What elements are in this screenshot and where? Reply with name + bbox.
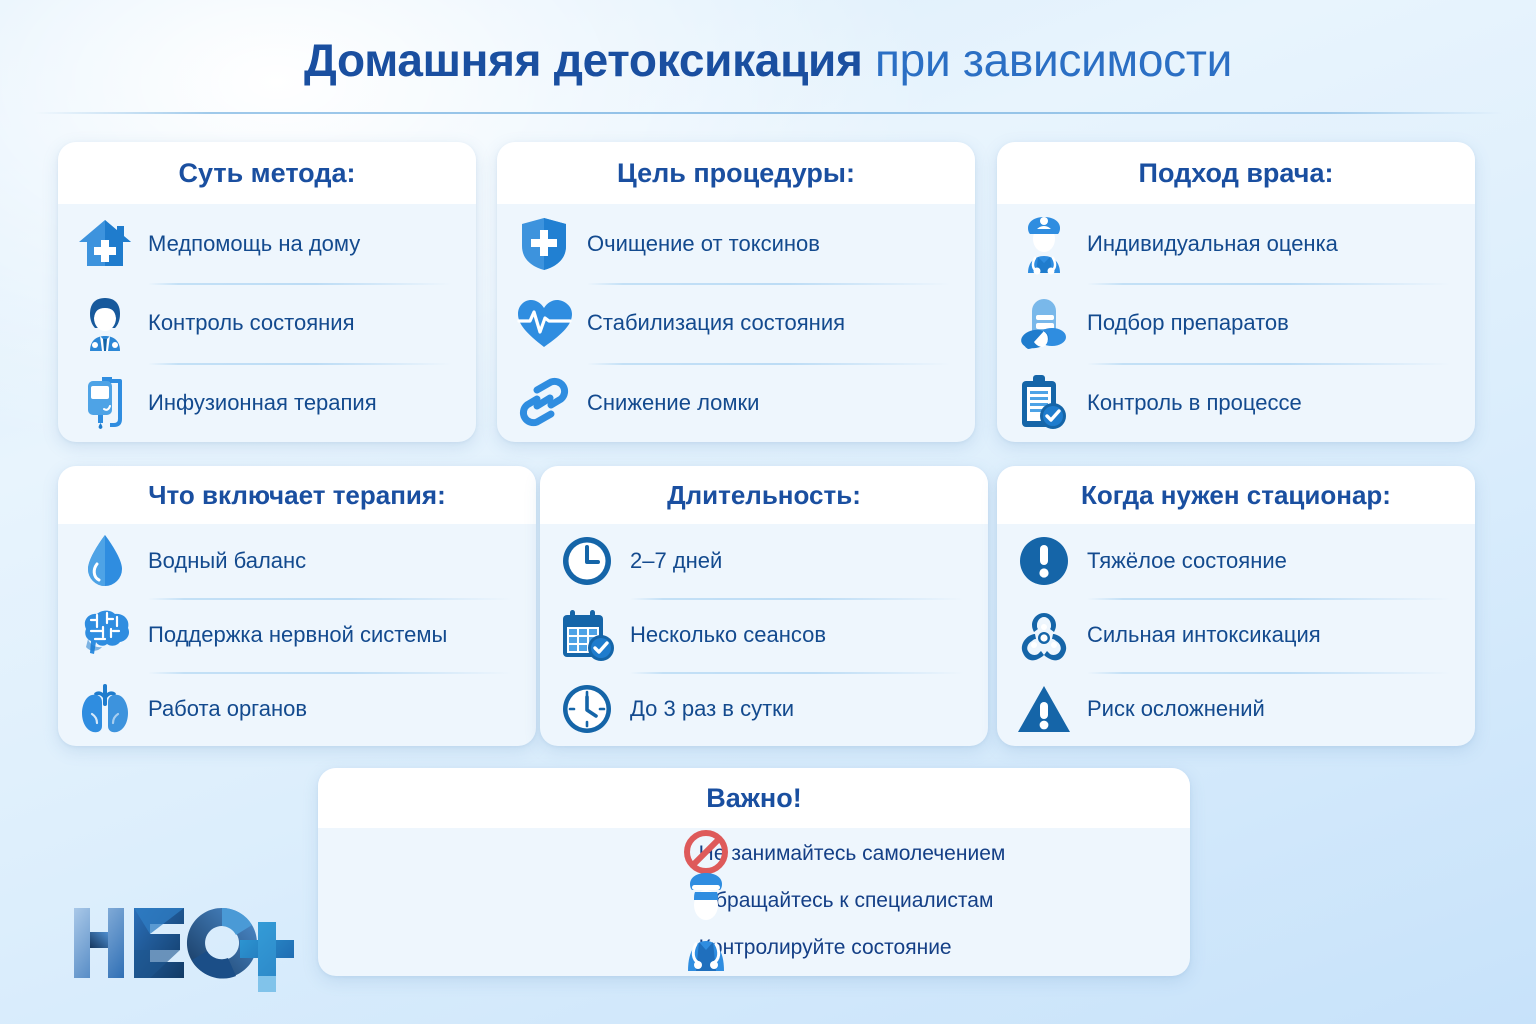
card-important-heading: Важно! [318, 768, 1190, 828]
card-essence: Суть метода: Медпомощь на дому [58, 142, 476, 442]
house-cross-icon [76, 215, 134, 273]
row-label: Поддержка нервной системы [148, 622, 447, 647]
calendar-check-icon [558, 606, 616, 664]
important-item: Контролируйте состояние [699, 925, 1006, 971]
row-item: Несколько сеансов [558, 598, 970, 672]
card-inpatient: Когда нужен стационар: Тяжёлое состояние [997, 466, 1475, 746]
heart-pulse-icon [515, 294, 573, 352]
row-label: Инфузионная терапия [148, 390, 377, 415]
row-item: Индивидуальная оценка [1015, 204, 1457, 283]
row-label: Контроль состояния [148, 310, 355, 335]
card-important: Важно! [318, 768, 1190, 976]
row-item: Сильная интоксикация [1015, 598, 1457, 672]
doctor-stethoscope-icon [1015, 215, 1073, 273]
row-item: 2–7 дней [558, 524, 970, 598]
card-approach-heading: Подход врача: [997, 142, 1475, 204]
important-item-label: Не занимайтесь самолечением [699, 842, 1006, 866]
lungs-icon [76, 680, 134, 738]
exclamation-circle-icon [1015, 532, 1073, 590]
row-item: Контроль состояния [76, 283, 458, 362]
card-essence-heading: Суть метода: [58, 142, 476, 204]
biohazard-icon [1015, 606, 1073, 664]
important-item-label: Обращайтесь к специалистам [699, 889, 994, 913]
infographic-page: Домашняя детоксикация при зависимости Су… [0, 0, 1536, 1024]
row-label: Снижение ломки [587, 390, 759, 415]
page-title-light: при зависимости [863, 34, 1232, 86]
row-label: Тяжёлое состояние [1087, 548, 1287, 573]
row-label: Риск осложнений [1087, 696, 1265, 721]
row-label: Работа органов [148, 696, 307, 721]
row-item: Поддержка нервной системы [76, 598, 518, 672]
row-item: До 3 раз в сутки [558, 672, 970, 746]
row-label: Водный баланс [148, 548, 306, 573]
card-goal-heading: Цель процедуры: [497, 142, 975, 204]
clock-icon [558, 532, 616, 590]
row-label: Медпомощь на дому [148, 231, 360, 256]
row-label: Сильная интоксикация [1087, 622, 1321, 647]
page-title-strong: Домашняя детоксикация [304, 34, 863, 86]
row-item: Работа органов [76, 672, 518, 746]
brain-icon [76, 606, 134, 664]
important-item: Не занимайтесь самолечением [699, 831, 1006, 877]
row-item: Тяжёлое состояние [1015, 524, 1457, 598]
row-item: Водный баланс [76, 524, 518, 598]
row-item: Очищение от токсинов [515, 204, 957, 283]
row-item: Стабилизация состояния [515, 283, 957, 362]
warning-triangle-icon [1015, 680, 1073, 738]
clock-ticks-icon [558, 680, 616, 738]
card-therapy: Что включает терапия: Водный баланс [58, 466, 536, 746]
row-item: Контроль в процессе [1015, 363, 1457, 442]
row-label: До 3 раз в сутки [630, 696, 794, 721]
row-label: Очищение от токсинов [587, 231, 820, 256]
card-duration-heading: Длительность: [540, 466, 988, 524]
row-item: Риск осложнений [1015, 672, 1457, 746]
page-title: Домашняя детоксикация при зависимости [0, 36, 1536, 84]
chain-link-icon [515, 373, 573, 431]
important-item: Обращайтесь к специалистам [699, 878, 1006, 924]
row-item: Инфузионная терапия [76, 363, 458, 442]
water-drop-icon [76, 532, 134, 590]
doctor-figure-icon [679, 869, 733, 971]
shield-cross-icon [515, 215, 573, 273]
row-item: Подбор препаратов [1015, 283, 1457, 362]
row-label: Контроль в процессе [1087, 390, 1302, 415]
neo-plus-logo-icon [70, 904, 298, 982]
row-item: Медпомощь на дому [76, 204, 458, 283]
row-label: Стабилизация состояния [587, 310, 845, 335]
clipboard-check-icon [1015, 373, 1073, 431]
card-goal: Цель процедуры: Очищение от токсинов [497, 142, 975, 442]
row-label: 2–7 дней [630, 548, 722, 573]
card-therapy-heading: Что включает терапия: [58, 466, 536, 524]
row-item: Снижение ломки [515, 363, 957, 442]
card-duration: Длительность: 2–7 дней [540, 466, 988, 746]
brand-logo [70, 904, 298, 982]
row-label: Индивидуальная оценка [1087, 231, 1338, 256]
pills-icon [1015, 294, 1073, 352]
card-approach: Подход врача: [997, 142, 1475, 442]
card-inpatient-heading: Когда нужен стационар: [997, 466, 1475, 524]
iv-drip-icon [76, 373, 134, 431]
doctor-portrait-icon [76, 294, 134, 352]
important-icons [681, 829, 737, 975]
row-label: Несколько сеансов [630, 622, 826, 647]
title-divider [34, 112, 1502, 114]
row-label: Подбор препаратов [1087, 310, 1289, 335]
